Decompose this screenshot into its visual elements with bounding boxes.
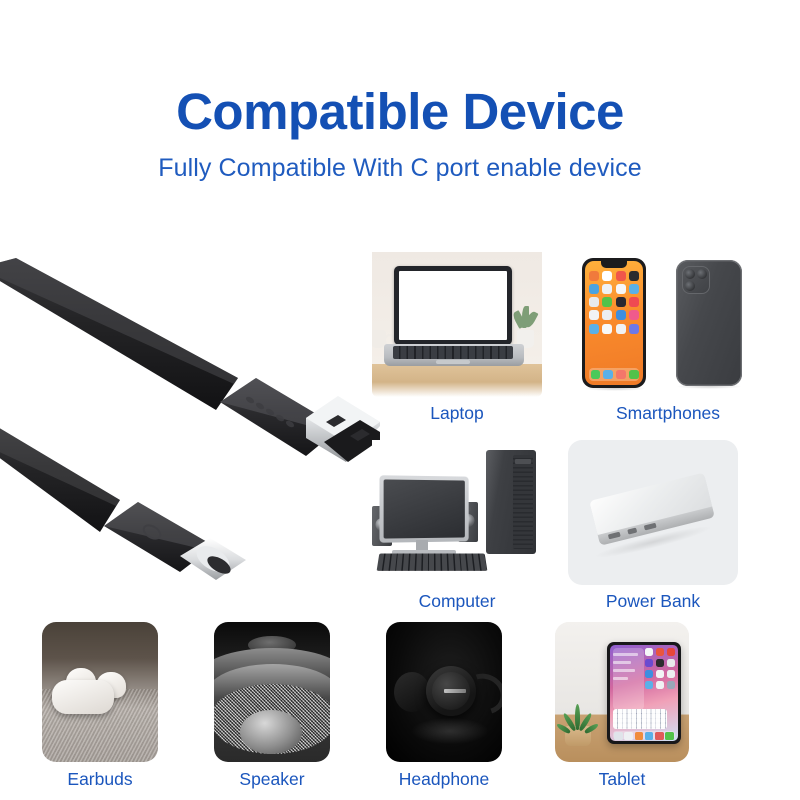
app-icon <box>665 732 674 741</box>
app-icon <box>656 681 664 689</box>
power-bank-image <box>568 440 738 585</box>
app-icon <box>667 670 675 678</box>
tablet-image <box>555 622 689 762</box>
phone-app-grid <box>589 271 639 334</box>
app-icon <box>645 659 653 667</box>
app-icon <box>603 370 613 380</box>
app-icon <box>629 324 639 334</box>
device-card-tablet[interactable]: Tablet <box>542 622 702 789</box>
app-icon <box>616 370 626 380</box>
headphone-brand-mark <box>444 689 466 693</box>
headphone-image <box>386 622 502 762</box>
laptop-image <box>372 252 542 397</box>
smartphones-image <box>568 252 768 397</box>
pc-monitor-screen <box>384 479 465 538</box>
app-icon <box>602 310 612 320</box>
phone-camera-module <box>682 266 710 294</box>
app-icon <box>589 297 599 307</box>
app-icon <box>645 670 653 678</box>
desk-plant-icon <box>513 304 537 348</box>
app-icon <box>589 310 599 320</box>
app-icon <box>656 648 664 656</box>
app-icon <box>645 681 653 689</box>
device-card-laptop[interactable]: Laptop <box>372 252 542 423</box>
phone-back-view <box>676 260 742 386</box>
pc-keyboard <box>377 554 488 571</box>
app-icon <box>616 310 626 320</box>
device-label-earbuds: Earbuds <box>20 771 180 789</box>
app-icon <box>616 284 626 294</box>
speaker-image <box>214 622 330 762</box>
speaker-dome <box>240 710 302 754</box>
tablet-home-screen <box>610 645 678 741</box>
device-label-smartphones: Smartphones <box>568 405 768 423</box>
laptop-keyboard <box>393 346 513 359</box>
phone-front-view <box>582 258 646 388</box>
app-icon <box>589 284 599 294</box>
app-icon <box>645 732 654 741</box>
app-icon <box>589 271 599 281</box>
tablet-keyboard-overlay <box>613 709 667 729</box>
phone-dock <box>589 368 639 381</box>
headphone-near-cup <box>426 666 476 716</box>
usb-a-connector <box>220 378 380 462</box>
cable-illustration <box>0 250 380 600</box>
headphone-far-cup <box>394 672 430 712</box>
device-card-computer[interactable]: Computer <box>372 440 542 611</box>
device-card-power-bank[interactable]: Power Bank <box>568 440 738 611</box>
app-icon <box>602 324 612 334</box>
page-title: Compatible Device <box>0 86 800 137</box>
app-icon <box>616 297 626 307</box>
laptop-base <box>384 344 524 366</box>
laptop-screen <box>399 271 507 340</box>
device-grid-top: Laptop <box>372 252 788 618</box>
header: Compatible Device Fully Compatible With … <box>0 0 800 181</box>
app-icon <box>629 297 639 307</box>
app-icon <box>635 732 644 741</box>
earbuds-case <box>52 680 114 714</box>
app-icon <box>629 370 639 380</box>
device-label-speaker: Speaker <box>192 771 352 789</box>
computer-image <box>372 440 542 585</box>
device-grid-bottom: Earbuds Speaker <box>38 622 762 792</box>
laptop-lid <box>394 266 512 345</box>
device-card-headphone[interactable]: Headphone <box>364 622 524 789</box>
device-label-laptop: Laptop <box>372 405 542 423</box>
app-icon <box>667 648 675 656</box>
usb-cable-product-image <box>0 250 380 600</box>
app-icon <box>629 310 639 320</box>
phone-notch <box>601 261 627 268</box>
app-icon <box>616 324 626 334</box>
app-icon <box>602 297 612 307</box>
app-icon <box>656 670 664 678</box>
app-icon <box>629 271 639 281</box>
app-icon <box>624 732 633 741</box>
device-card-speaker[interactable]: Speaker <box>192 622 352 789</box>
app-icon <box>591 370 601 380</box>
device-label-headphone: Headphone <box>364 771 524 789</box>
device-card-smartphones[interactable]: Smartphones <box>568 252 768 423</box>
device-label-power-bank: Power Bank <box>568 593 738 611</box>
laptop-trackpad <box>436 360 470 364</box>
device-label-computer: Computer <box>372 593 542 611</box>
device-card-earbuds[interactable]: Earbuds <box>20 622 180 789</box>
tablet-dock <box>613 731 675 739</box>
usb-c-connector <box>104 502 246 580</box>
app-icon <box>667 659 675 667</box>
app-icon <box>614 732 623 741</box>
headphone-reflection <box>412 718 488 744</box>
app-icon <box>655 732 664 741</box>
app-icon <box>602 271 612 281</box>
pc-tower <box>486 450 536 554</box>
app-icon <box>589 324 599 334</box>
app-icon <box>602 284 612 294</box>
app-icon <box>656 659 664 667</box>
laptop-desk <box>372 364 542 397</box>
infographic-canvas: Compatible Device Fully Compatible With … <box>0 0 800 800</box>
earbuds-image <box>42 622 158 762</box>
tablet-app-grid <box>645 648 675 689</box>
app-icon <box>645 648 653 656</box>
page-subtitle: Fully Compatible With C port enable devi… <box>0 156 800 181</box>
pc-monitor <box>379 475 468 542</box>
tablet-device <box>607 642 681 744</box>
app-icon <box>616 271 626 281</box>
app-icon <box>667 681 675 689</box>
phone-home-screen <box>585 261 643 385</box>
device-label-tablet: Tablet <box>542 771 702 789</box>
app-icon <box>629 284 639 294</box>
